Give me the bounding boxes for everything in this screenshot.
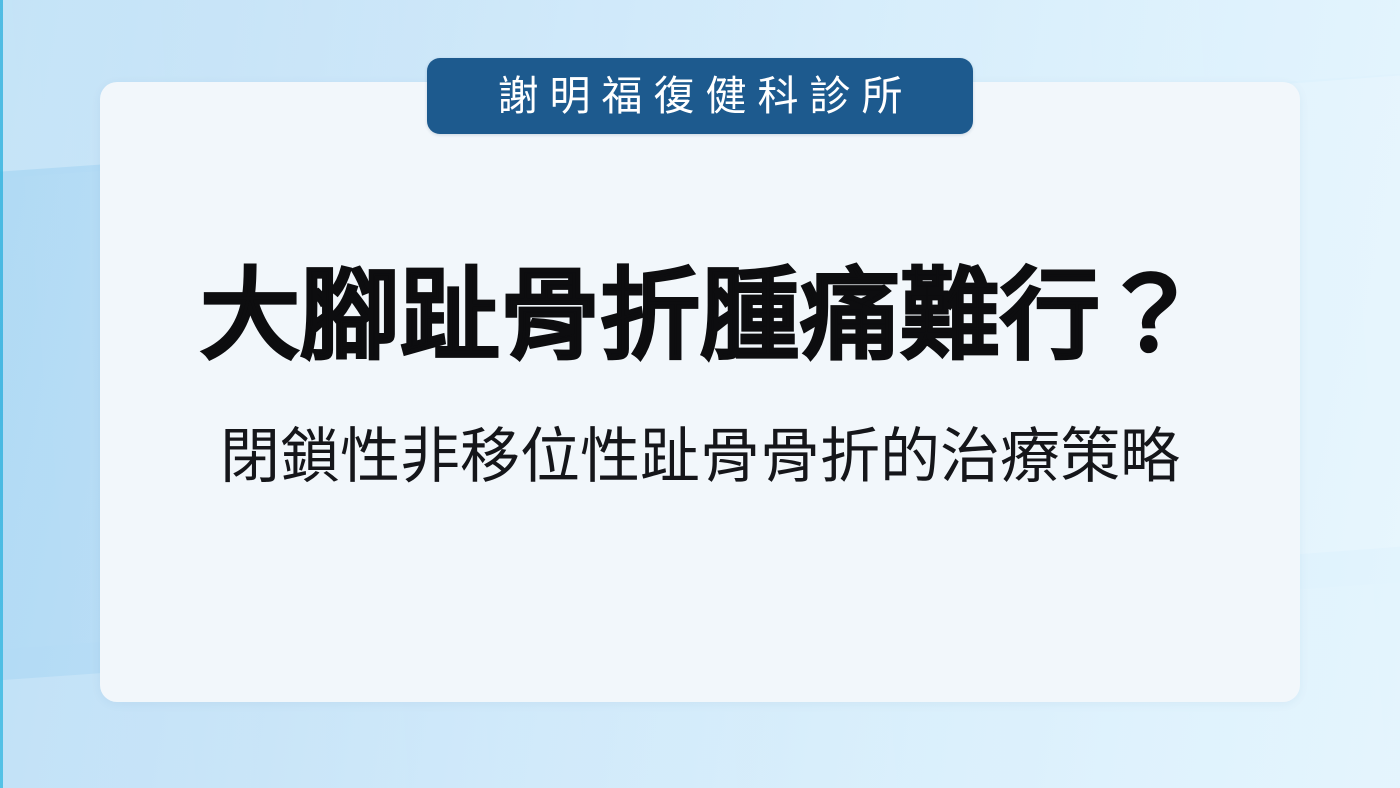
left-edge-stripe	[0, 0, 3, 788]
clinic-name-badge: 謝明福復健科診所	[427, 58, 973, 134]
page-subtitle: 閉鎖性非移位性趾骨骨折的治療策略	[220, 375, 1180, 493]
headline-block: 大腳趾骨折腫痛難行？ 閉鎖性非移位性趾骨骨折的治療策略	[100, 82, 1300, 702]
page-title: 大腳趾骨折腫痛難行？	[200, 257, 1200, 375]
title-card-canvas: 大腳趾骨折腫痛難行？ 閉鎖性非移位性趾骨骨折的治療策略 謝明福復健科診所	[0, 0, 1400, 788]
clinic-name-label: 謝明福復健科診所	[487, 76, 914, 117]
